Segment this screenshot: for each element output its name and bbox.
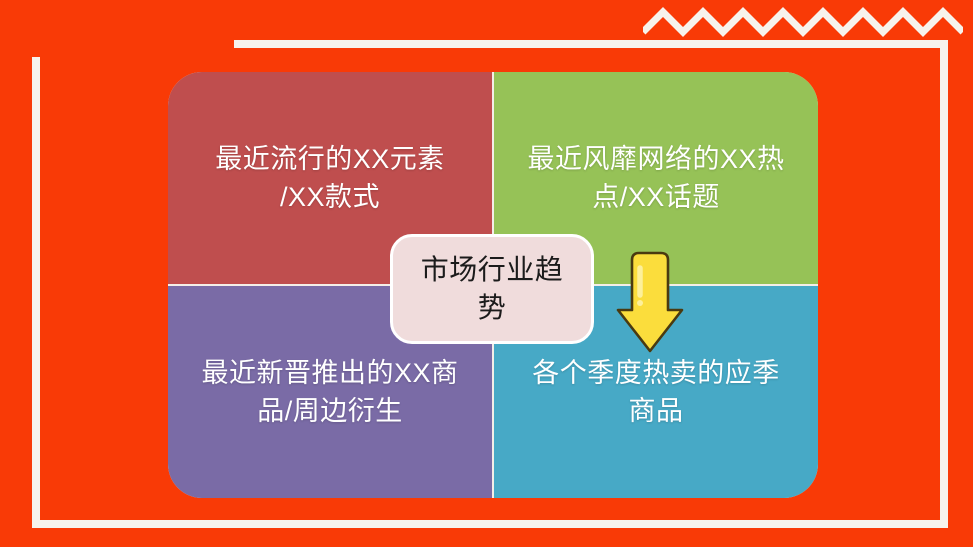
quadrant-bottom-left-label: 最近新晋推出的XX商 品/周边衍生 (201, 354, 458, 431)
frame-border-right (940, 40, 948, 528)
arrow-down-icon (612, 248, 688, 356)
quadrant-top-right-label: 最近风靡网络的XX热 点/XX话题 (527, 140, 784, 217)
zigzag-border-decoration (643, 2, 963, 40)
frame-border-left (32, 57, 40, 528)
quadrant-bottom-right-label: 各个季度热卖的应季 商品 (532, 354, 780, 431)
slide-canvas: 最近流行的XX元素 /XX款式 最近风靡网络的XX热 点/XX话题 最近新晋推出… (0, 0, 973, 547)
center-topic-label: 市场行业趋势 (407, 251, 577, 327)
frame-border-bottom (32, 520, 948, 528)
center-topic-badge[interactable]: 市场行业趋势 (390, 234, 594, 344)
frame-border-top (234, 40, 948, 48)
quadrant-top-left-label: 最近流行的XX元素 /XX款式 (215, 140, 445, 217)
